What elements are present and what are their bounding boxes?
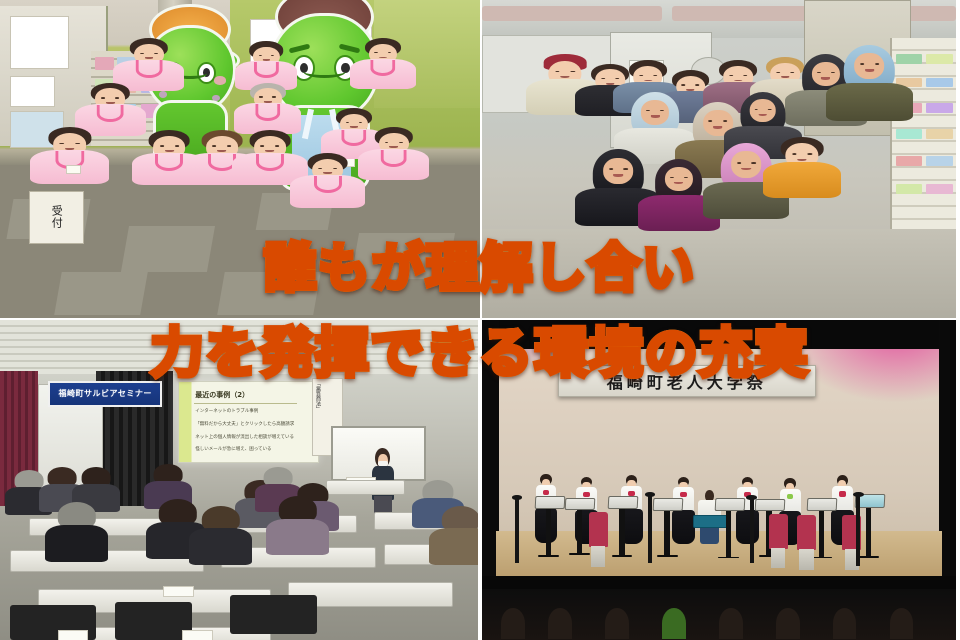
wall-poster	[10, 76, 55, 107]
microphone-stand	[648, 496, 652, 563]
person-hijab-figure	[743, 92, 783, 137]
person-figure	[781, 137, 824, 185]
photo-top-left: 受付	[0, 0, 480, 318]
collage-seam-horizontal	[0, 318, 480, 320]
microphone-stand	[515, 499, 519, 563]
person-figure	[130, 38, 168, 79]
person-figure	[149, 130, 190, 173]
handout-paper	[182, 630, 213, 640]
performer-figure	[736, 477, 760, 547]
attendee-figure	[82, 467, 111, 505]
music-stand	[577, 498, 582, 556]
person-figure	[91, 83, 129, 124]
performer-figure	[672, 477, 696, 547]
poster-collage: 受付	[0, 0, 960, 640]
person-figure	[250, 83, 286, 123]
person-figure	[374, 127, 412, 168]
festival-banner: 福崎町老人大学祭	[558, 365, 816, 397]
chair-back	[230, 595, 316, 633]
person-hijab-figure	[634, 92, 677, 140]
ceiling-duct	[482, 6, 662, 20]
reception-sign: 受付	[29, 191, 84, 244]
music-stand	[546, 496, 551, 557]
person-hijab-figure	[847, 45, 892, 96]
handout-paper	[163, 586, 194, 598]
music-stand	[866, 494, 871, 558]
collage-seam-vertical-bottom	[478, 318, 482, 640]
handout-paper	[58, 630, 89, 640]
slide-title: 最近の事例（2）	[195, 390, 249, 400]
audience-silhouette	[482, 589, 956, 640]
attendee-figure	[278, 496, 316, 547]
attendee-figure	[442, 506, 480, 557]
photo-bottom-right: 福崎町老人大学祭	[482, 320, 956, 640]
slide-line-3: 怪しいメールが急に増え、困っている	[195, 447, 298, 454]
festival-banner-label: 福崎町老人大学祭	[607, 369, 767, 393]
stage-header-dark	[482, 320, 956, 349]
stage-chair	[797, 515, 816, 550]
collage-seam-vertical-top	[480, 0, 482, 318]
stage-chair	[589, 512, 608, 547]
person-figure	[250, 130, 291, 173]
seminar-banner: 福崎町サルビアセミナー	[48, 381, 162, 407]
keyboard-instrument	[693, 515, 728, 528]
music-stand	[819, 498, 824, 559]
microphone-stand	[856, 496, 860, 566]
photo-top-right	[482, 0, 956, 318]
person-figure	[336, 108, 372, 148]
wall-poster	[10, 16, 70, 69]
attendee-figure	[154, 464, 183, 502]
attendee-figure	[202, 506, 240, 557]
presenter-desk	[326, 480, 405, 495]
ceiling-duct	[672, 6, 824, 20]
office-floor	[482, 229, 956, 318]
slide-line-1: 「無料だから大丈夫」とクリックしたら高額請求	[195, 422, 298, 429]
leaflet-shelf	[890, 38, 956, 235]
person-figure	[365, 38, 401, 78]
slide-line-0: インターネットのトラブル事例	[195, 409, 298, 416]
projector-screen: 最近の事例（2） インターネットのトラブル事例 「無料だから大丈夫」とクリックし…	[178, 381, 319, 463]
slide-line-2: ネット上の個人情報が流出した相談が増えている	[195, 435, 298, 442]
music-stand	[726, 498, 731, 559]
person-hijab-figure	[596, 149, 641, 200]
vertical-banner-label: 「悪質商法」	[315, 381, 322, 411]
stage-chair	[769, 514, 788, 549]
person-figure	[307, 153, 348, 196]
chair-back	[115, 602, 192, 640]
collage-edge-right	[956, 0, 960, 640]
microphone-stand	[750, 499, 754, 563]
person-figure	[250, 41, 284, 79]
reception-sign-label: 受付	[48, 205, 64, 229]
seminar-ceiling	[0, 320, 480, 374]
music-stand	[619, 496, 624, 557]
stage-wing-right	[939, 320, 956, 570]
attendee-figure	[58, 502, 96, 553]
music-stand	[664, 498, 669, 557]
person-hijab-figure	[724, 143, 769, 194]
person-figure	[48, 127, 91, 172]
person-hijab-figure	[657, 159, 700, 207]
seminar-banner-label: 福崎町サルビアセミナー	[59, 388, 152, 399]
photo-bottom-left: 福崎町サルビアセミナー 最近の事例（2） インターネットのトラブル事例 「無料だ…	[0, 320, 480, 640]
